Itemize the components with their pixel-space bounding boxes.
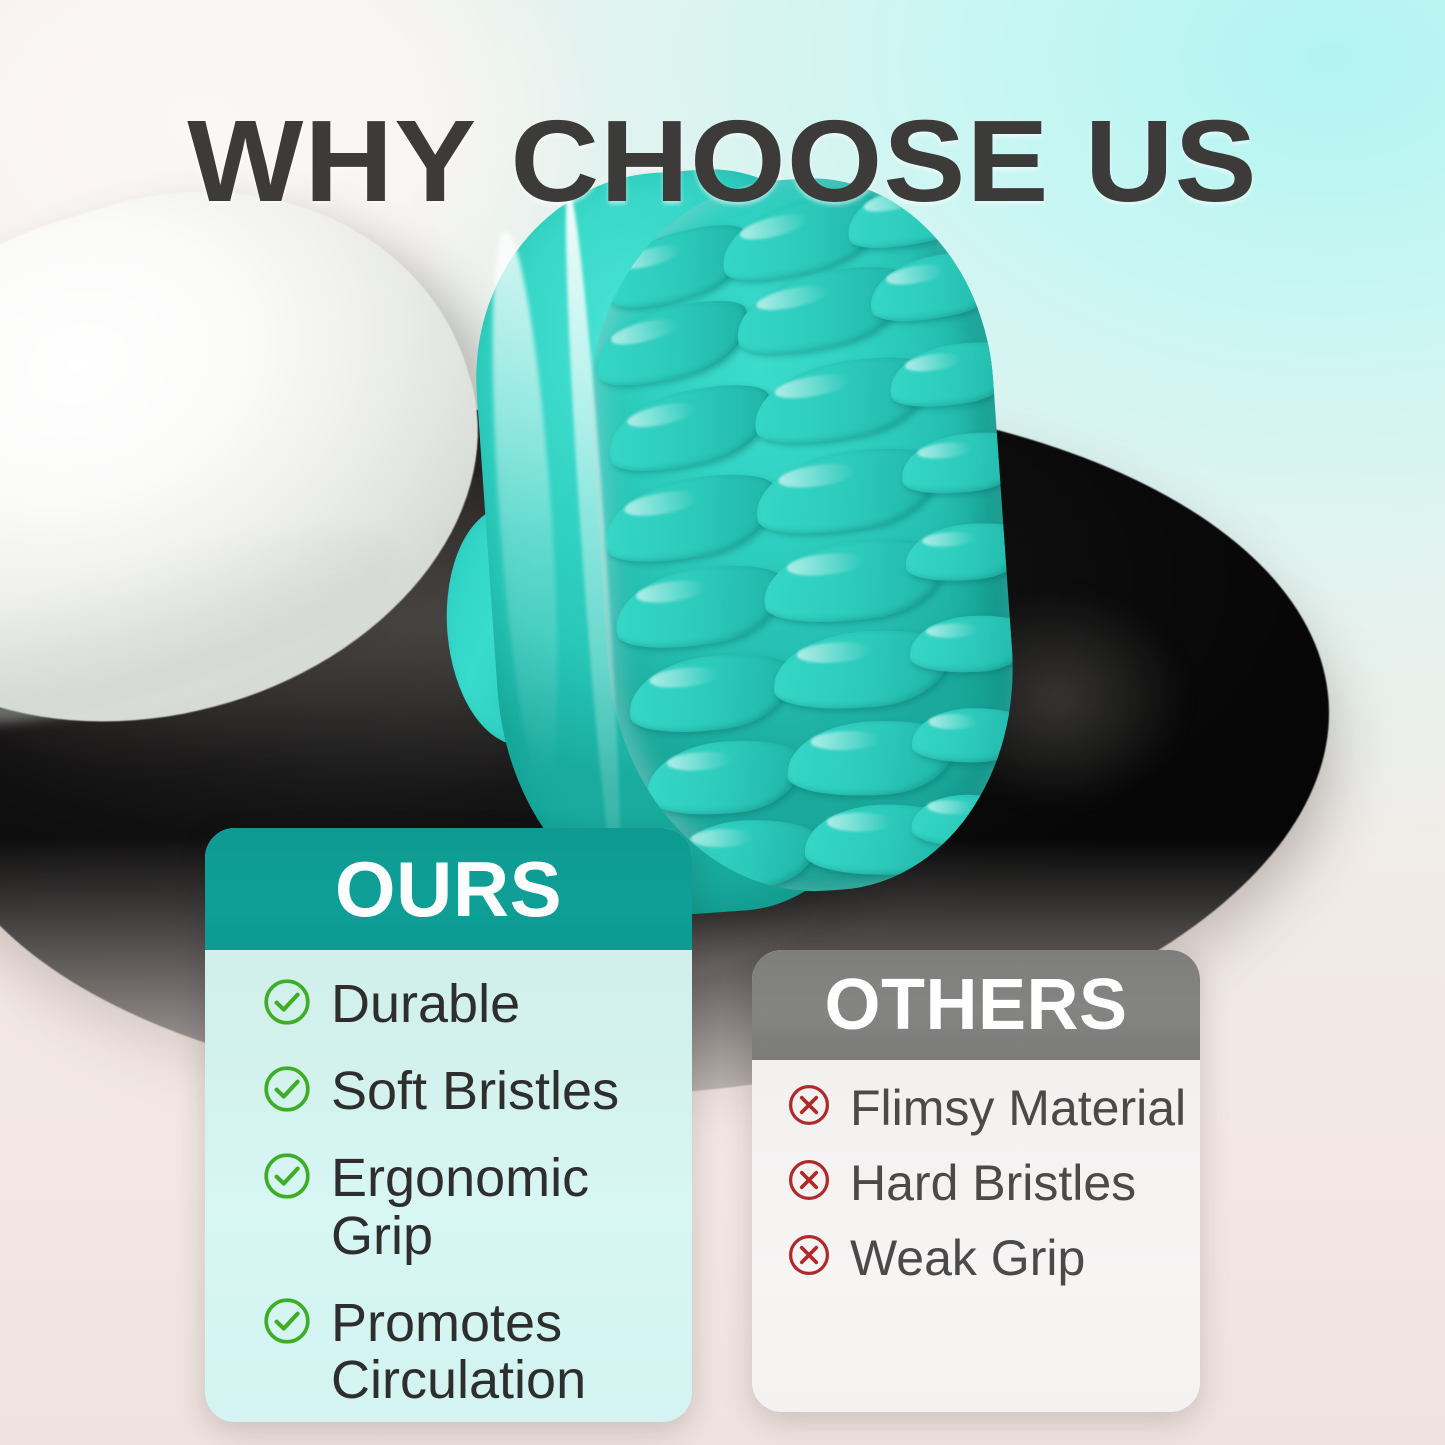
ours-feature-list: DurableSoft BristlesErgonomic GripPromot… (205, 950, 692, 1422)
bristle-cone (911, 793, 1023, 849)
check-circle-icon (261, 1063, 313, 1115)
others-feature-row: Hard Bristles (786, 1157, 1188, 1210)
others-feature-row: Flimsy Material (786, 1082, 1188, 1135)
ours-feature-row: Promotes Circulation (261, 1295, 674, 1409)
comparison-card-ours: OURS DurableSoft BristlesErgonomic GripP… (205, 828, 692, 1422)
bristle-cone (597, 465, 784, 572)
x-circle-icon (786, 1232, 832, 1278)
ours-feature-label: Durable (331, 976, 520, 1033)
others-feature-label: Weak Grip (850, 1232, 1085, 1285)
check-circle-icon (261, 1150, 313, 1202)
x-circle-icon (786, 1082, 832, 1128)
others-feature-label: Flimsy Material (850, 1082, 1186, 1135)
bristle-cone (864, 244, 1013, 329)
ours-card-heading: OURS (205, 828, 692, 950)
bristle-cone (885, 336, 1024, 414)
ours-feature-label: Soft Bristles (331, 1063, 619, 1120)
others-feature-list: Flimsy MaterialHard BristlesWeak Grip (752, 1060, 1200, 1337)
comparison-card-others: OTHERS Flimsy MaterialHard BristlesWeak … (752, 950, 1200, 1412)
ours-feature-row: Ergonomic Grip (261, 1150, 674, 1264)
infographic-canvas: WHY CHOOSE US OURS DurableSoft BristlesE… (0, 0, 1445, 1445)
ours-feature-row: Soft Bristles (261, 1063, 674, 1120)
ours-feature-label: Ergonomic Grip (331, 1150, 674, 1264)
bristle-cone (670, 818, 818, 891)
check-circle-icon (261, 1295, 313, 1347)
bristle-cone (600, 374, 780, 481)
bristle-cone (625, 648, 796, 739)
bristle-cone (912, 708, 1028, 762)
ours-feature-row: Durable (261, 976, 674, 1033)
others-feature-label: Hard Bristles (850, 1157, 1136, 1210)
bristle-cone (610, 557, 789, 656)
bristle-cone (909, 614, 1028, 674)
others-feature-row: Weak Grip (786, 1232, 1188, 1285)
ours-feature-label: Promotes Circulation (331, 1295, 674, 1409)
bristle-cone (898, 427, 1028, 498)
bristle-cone (644, 736, 805, 819)
bristle-cone (903, 520, 1028, 585)
others-card-heading: OTHERS (752, 950, 1200, 1060)
bristle-cone (586, 290, 758, 397)
check-circle-icon (261, 976, 313, 1028)
page-title: WHY CHOOSE US (0, 94, 1445, 228)
x-circle-icon (786, 1157, 832, 1203)
